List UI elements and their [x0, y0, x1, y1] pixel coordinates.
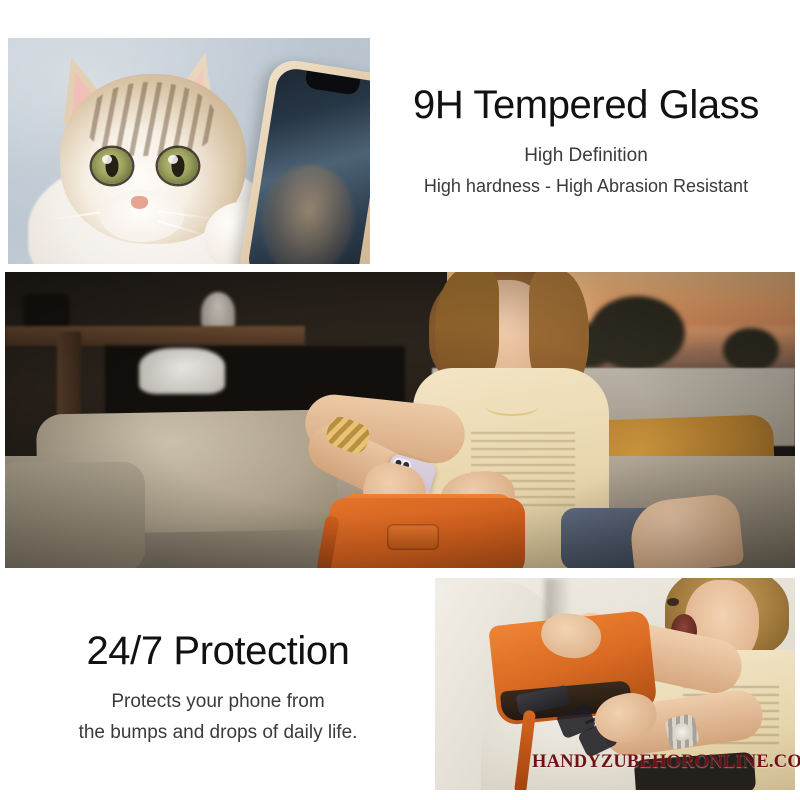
- headline-protection: 24/7 Protection: [8, 630, 428, 673]
- kitten-tabby-stripes: [86, 82, 216, 156]
- gold-necklace: [485, 396, 539, 416]
- kitten-eye-left: [92, 148, 132, 184]
- background-white-pillow: [139, 348, 225, 394]
- subline-protects-phone: Protects your phone from: [8, 687, 428, 718]
- iphone-notch: [304, 71, 360, 96]
- tree-silhouette: [723, 328, 779, 372]
- wooden-shelf: [5, 326, 305, 346]
- handbag-front-tab: [387, 524, 439, 550]
- kitten-nose: [131, 196, 148, 209]
- sofa-armrest: [5, 462, 145, 568]
- subline-high-hardness: High hardness - High Abrasion Resistant: [380, 172, 792, 201]
- woman-bag-phone-photo: [5, 272, 795, 568]
- subline-high-definition: High Definition: [380, 141, 792, 172]
- kitten-eye-gleam-left: [102, 155, 112, 164]
- screen-reflection: [253, 158, 361, 264]
- kitten-phone-photo: [8, 38, 370, 264]
- woman-eye: [667, 598, 679, 606]
- tempered-glass-copy: 9H Tempered Glass High Definition High h…: [380, 84, 792, 201]
- product-infographic: 9H Tempered Glass High Definition High h…: [0, 0, 800, 800]
- kitten-eye-gleam-right: [168, 155, 178, 164]
- site-watermark: HANDYZUBEHORONLINE.COM: [532, 752, 800, 773]
- protection-copy: 24/7 Protection Protects your phone from…: [8, 630, 428, 749]
- subline-bumps-drops: the bumps and drops of daily life.: [8, 718, 428, 749]
- headline-tempered-glass: 9H Tempered Glass: [380, 84, 792, 127]
- watch-face: [671, 721, 692, 742]
- wristwatch: [664, 713, 700, 751]
- kitten-eye-right: [158, 148, 198, 184]
